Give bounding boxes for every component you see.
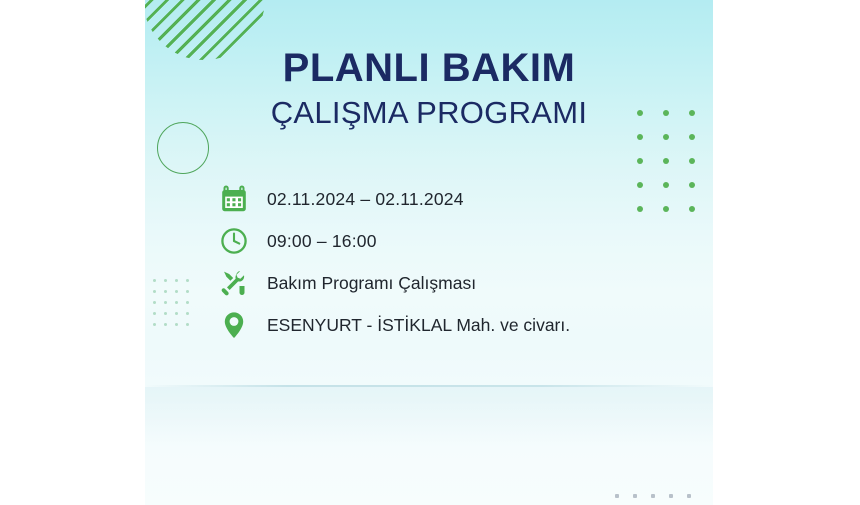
watermark-mark (615, 494, 619, 498)
info-row-time: 09:00 – 16:00 (217, 220, 687, 262)
dot (175, 323, 178, 326)
dot (663, 134, 669, 140)
dot (689, 158, 695, 164)
info-row-date-label: 02.11.2024 – 02.11.2024 (267, 189, 464, 210)
dot (164, 323, 167, 326)
dot (153, 312, 156, 315)
haze-band (145, 387, 713, 447)
info-row-location: ESENYURT - İSTİKLAL Mah. ve civarı. (217, 304, 687, 346)
dot (175, 279, 178, 282)
dot (175, 290, 178, 293)
dot (186, 301, 189, 304)
dot (175, 301, 178, 304)
info-row-location-label: ESENYURT - İSTİKLAL Mah. ve civarı. (267, 315, 570, 336)
dot (637, 158, 643, 164)
watermark-mark (633, 494, 637, 498)
dot (175, 312, 178, 315)
dot (164, 290, 167, 293)
dot (186, 279, 189, 282)
info-row-time-label: 09:00 – 16:00 (267, 231, 377, 252)
dot-grid-left-decoration (153, 279, 197, 334)
page-title: PLANLI BAKIM (145, 48, 713, 88)
dot (663, 158, 669, 164)
dot (153, 279, 156, 282)
dot (689, 134, 695, 140)
tools-icon (217, 266, 251, 300)
dot (186, 312, 189, 315)
info-row-work: Bakım Programı Çalışması (217, 262, 687, 304)
watermark-mark (687, 494, 691, 498)
dot (186, 323, 189, 326)
info-row-date: 02.11.2024 – 02.11.2024 (217, 178, 687, 220)
page-subtitle: ÇALIŞMA PROGRAMI (145, 96, 713, 130)
dot (689, 182, 695, 188)
dot (186, 290, 189, 293)
watermark-mark (669, 494, 673, 498)
poster-canvas: PLANLI BAKIM ÇALIŞMA PROGRAMI (145, 0, 713, 505)
watermark-decoration (615, 480, 705, 498)
dot (637, 134, 643, 140)
dot (153, 323, 156, 326)
dot (689, 206, 695, 212)
location-pin-icon (217, 308, 251, 342)
info-list: 02.11.2024 – 02.11.2024 09:00 – 16:00 (217, 178, 687, 346)
dot (164, 312, 167, 315)
info-row-work-label: Bakım Programı Çalışması (267, 273, 476, 294)
clock-icon (217, 224, 251, 258)
dot (164, 279, 167, 282)
dot (153, 301, 156, 304)
watermark-mark (651, 494, 655, 498)
dot (153, 290, 156, 293)
calendar-icon (217, 182, 251, 216)
dot (164, 301, 167, 304)
